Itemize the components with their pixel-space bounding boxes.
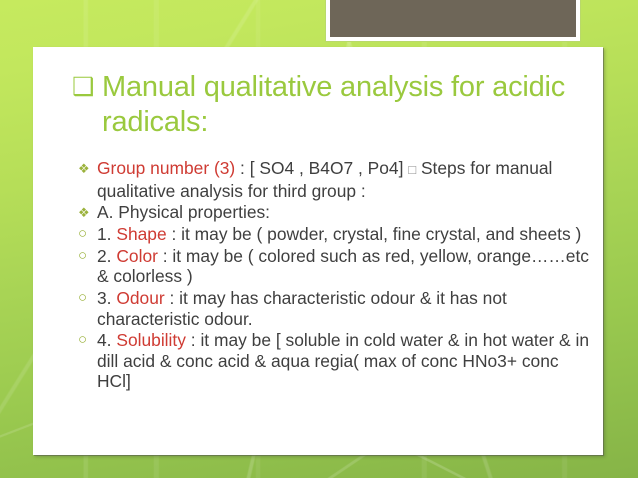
list-item-prefix: 3. [97, 288, 116, 308]
ring-bullet-icon: ○ [78, 246, 97, 266]
list-item-text: 4. Solubility : it may be [ soluble in c… [97, 330, 594, 392]
list-item-prefix: 4. [97, 330, 116, 350]
list-item: ○ 1. Shape : it may be ( powder, crystal… [78, 224, 594, 245]
missing-glyph-box-icon: □ [408, 162, 416, 177]
list-item-text: 2. Color : it may be ( colored such as r… [97, 246, 594, 287]
highlight-text: Solubility [116, 330, 186, 350]
list-item-text: 3. Odour : it may has characteristic odo… [97, 288, 594, 329]
slide: ❑Manual qualitative analysis for acidic … [0, 0, 638, 478]
list-item-rest: : it may be ( colored such as red, yello… [97, 246, 589, 287]
highlight-text: Color [116, 246, 158, 266]
hollow-square-bullet-icon: ❑ [72, 70, 102, 105]
list-item: ○ 2. Color : it may be ( colored such as… [78, 246, 594, 287]
ring-bullet-icon: ○ [78, 330, 97, 350]
list-item-prefix: 1. [97, 224, 116, 244]
list-item: ○ 3. Odour : it may has characteristic o… [78, 288, 594, 329]
highlight-text: Shape [116, 224, 166, 244]
list-item-prefix: 2. [97, 246, 116, 266]
list-item-rest: A. Physical properties: [97, 202, 270, 222]
highlight-text: Odour [116, 288, 164, 308]
ring-bullet-icon: ○ [78, 288, 97, 308]
list-item-rest: : [ SO4 , B4O7 , Po4] [235, 158, 408, 178]
list-item-text: Group number (3) : [ SO4 , B4O7 , Po4] □… [97, 158, 594, 201]
ring-bullet-icon: ○ [78, 224, 97, 244]
list-item: ❖ Group number (3) : [ SO4 , B4O7 , Po4]… [78, 158, 594, 201]
list-item-rest: : it may be ( powder, crystal, fine crys… [167, 224, 582, 244]
list-item: ❖ A. Physical properties: [78, 202, 594, 223]
body-content: ❖ Group number (3) : [ SO4 , B4O7 , Po4]… [78, 158, 594, 393]
diamond-bullet-icon: ❖ [78, 158, 97, 179]
page-title: ❑Manual qualitative analysis for acidic … [72, 70, 592, 140]
diamond-bullet-icon: ❖ [78, 202, 97, 223]
page-title-text: Manual qualitative analysis for acidic r… [102, 70, 572, 140]
brown-image-fill [330, 0, 576, 37]
highlight-text: Group number (3) [97, 158, 235, 178]
list-item: ○ 4. Solubility : it may be [ soluble in… [78, 330, 594, 392]
list-item-text: 1. Shape : it may be ( powder, crystal, … [97, 224, 594, 245]
page-title-line-1: Manual qualitative analysis [102, 71, 443, 103]
brown-image-placeholder [325, 0, 581, 42]
list-item-text: A. Physical properties: [97, 202, 594, 223]
